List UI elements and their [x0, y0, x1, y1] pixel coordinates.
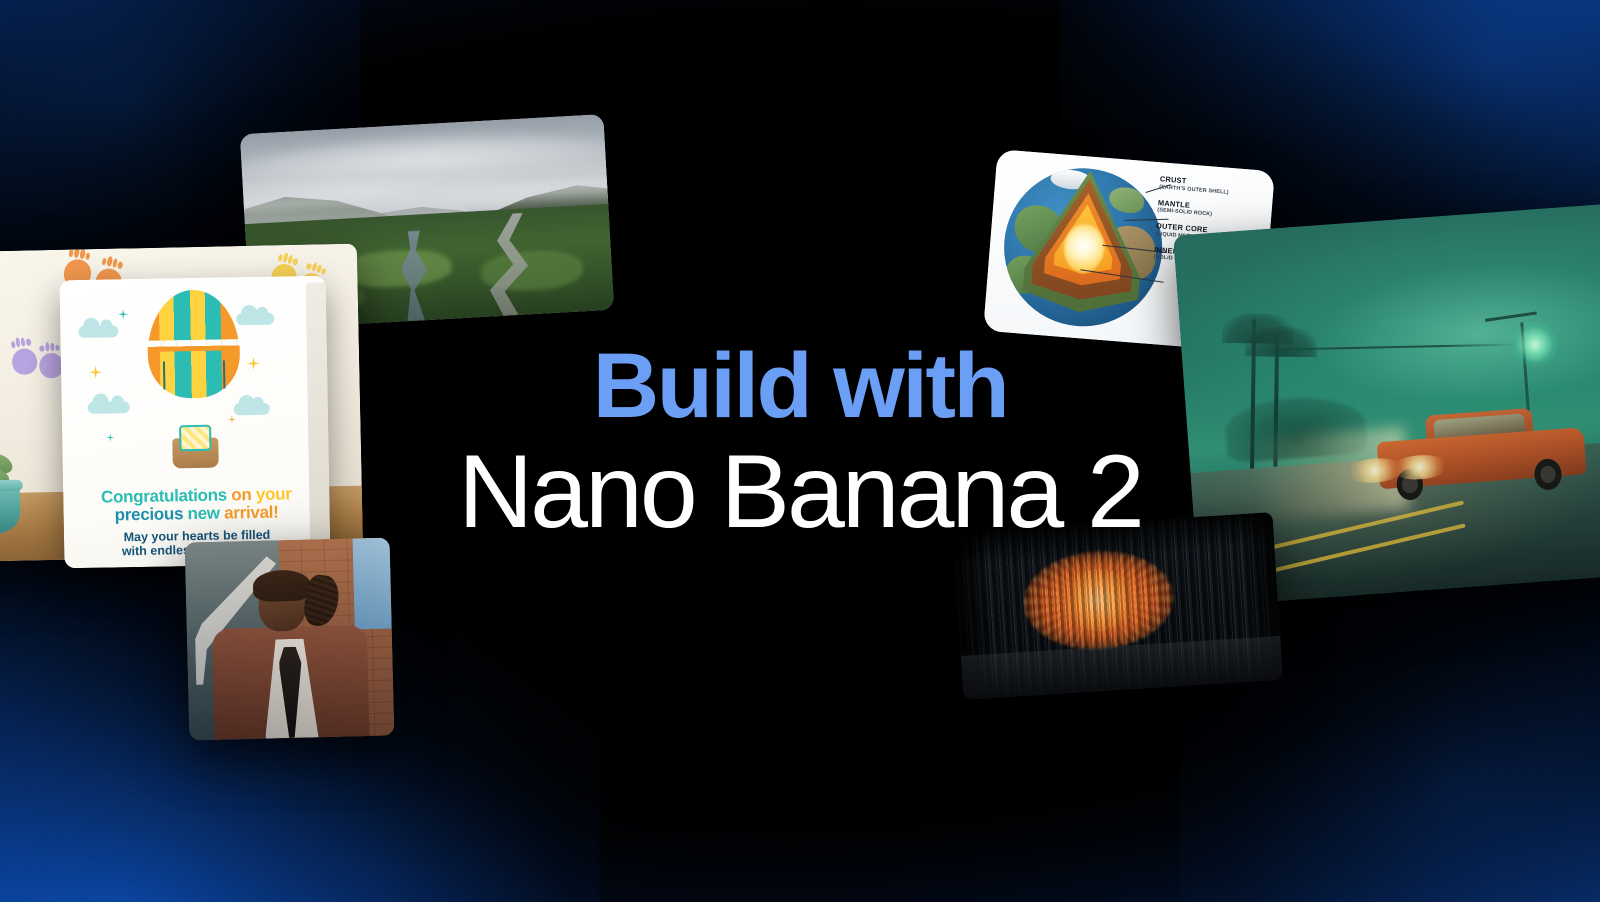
greeting-word: arrival! [224, 503, 279, 523]
sparkle-icon [247, 357, 260, 370]
teal-plant-pot [0, 485, 21, 534]
cloud-icon [88, 401, 130, 414]
greeting-word: new [187, 504, 219, 524]
portrait-image [185, 538, 395, 741]
fluted-glass-image [953, 512, 1283, 700]
balloon-illustration [60, 282, 329, 465]
greeting-word: precious [115, 504, 184, 524]
balloon-basket [172, 438, 219, 469]
earth-label-crust: CRUST (EARTH'S OUTER SHELL) [1159, 174, 1266, 198]
card-man-in-brown-suit-portrait[interactable] [185, 538, 395, 741]
hero-banner: Congratulations on your precious new arr… [0, 0, 1600, 902]
gift-icon [179, 425, 211, 452]
cloud-icon [234, 403, 270, 416]
greeting-word: your [256, 484, 292, 504]
sparkle-icon [89, 366, 102, 379]
card-orange-flower-behind-fluted-glass-photo[interactable] [953, 512, 1283, 700]
sparkle-icon [106, 433, 114, 441]
photo-shading [185, 538, 395, 741]
hot-air-balloon-icon [147, 289, 241, 399]
cloud-icon [236, 313, 274, 326]
greeting-card-face: Congratulations on your precious new arr… [60, 276, 331, 569]
sparkle-icon [118, 309, 128, 319]
earth-label-mantle: MANTLE (SEMI-SOLID ROCK) [1157, 198, 1264, 222]
balloon-band [148, 339, 240, 352]
cloud-icon [78, 325, 118, 338]
greeting-word: on [231, 485, 252, 504]
succulent-plant [0, 437, 29, 535]
landmass [1108, 186, 1145, 214]
greeting-headline: Congratulations on your precious new arr… [73, 485, 320, 526]
card-new-baby-greeting-card[interactable]: Congratulations on your precious new arr… [60, 276, 331, 569]
balloon-cords [163, 361, 225, 390]
sparkle-icon [228, 415, 236, 423]
